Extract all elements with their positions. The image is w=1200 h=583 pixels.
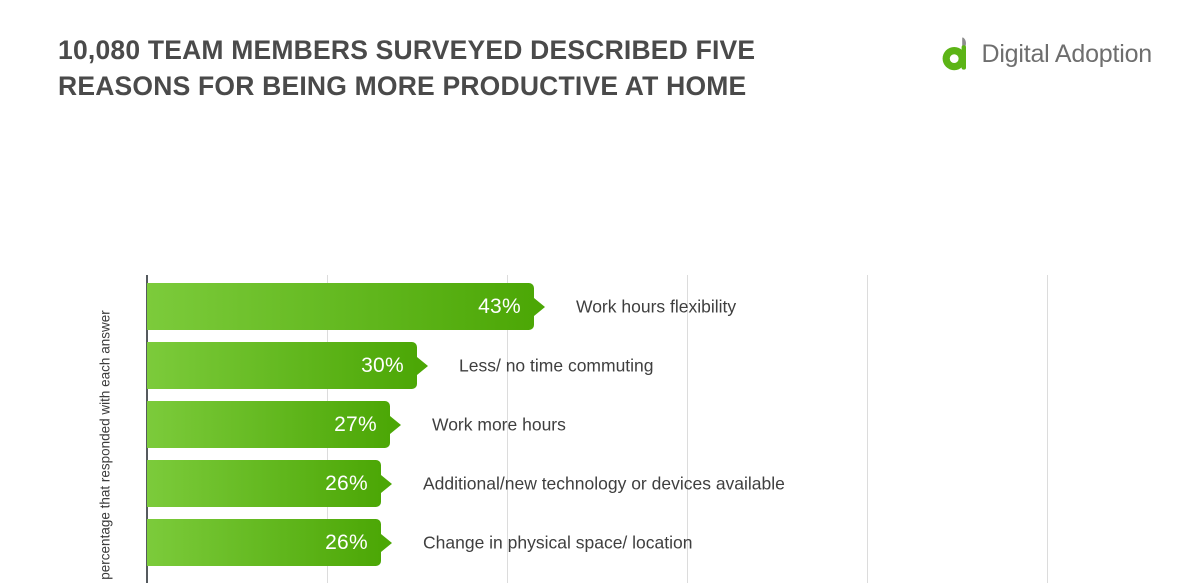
bar-pointer-icon [381, 534, 392, 552]
infographic-chart-page: 10,080 TEAM MEMBERS SURVEYED DESCRIBED F… [0, 0, 1200, 583]
bar-value-label: 43% [478, 295, 534, 319]
y-axis-label-text: The percentage that responded with each … [98, 310, 113, 583]
bar-category-label: Work more hours [432, 414, 566, 435]
bar-series: 43%Work hours flexibility30%Less/ no tim… [147, 283, 1147, 578]
bar-row[interactable]: 27%Work more hours [147, 401, 1147, 448]
bar-pointer-icon [381, 475, 392, 493]
bar-row[interactable]: 30%Less/ no time commuting [147, 342, 1147, 389]
digital-adoption-a-logo-icon [941, 36, 975, 72]
bar-value-label: 26% [325, 531, 381, 555]
header: 10,080 TEAM MEMBERS SURVEYED DESCRIBED F… [0, 0, 1200, 120]
bar-value-label: 30% [361, 354, 417, 378]
bar[interactable]: 26% [147, 460, 381, 507]
bar[interactable]: 30% [147, 342, 417, 389]
page-title: 10,080 TEAM MEMBERS SURVEYED DESCRIBED F… [58, 33, 858, 105]
chart-area: The percentage that responded with each … [0, 120, 1200, 583]
brand-logo: Digital Adoption [941, 36, 1152, 72]
bar-category-label: Change in physical space/ location [423, 532, 692, 553]
bar-pointer-icon [390, 416, 401, 434]
brand-name: Digital Adoption [981, 40, 1152, 69]
bar-row[interactable]: 26%Change in physical space/ location [147, 519, 1147, 566]
bar-value-label: 27% [334, 413, 390, 437]
bar-pointer-icon [417, 357, 428, 375]
y-axis-label: The percentage that responded with each … [96, 268, 114, 583]
bar-category-label: Work hours flexibility [576, 296, 736, 317]
bar-row[interactable]: 43%Work hours flexibility [147, 283, 1147, 330]
bar[interactable]: 26% [147, 519, 381, 566]
bar[interactable]: 27% [147, 401, 390, 448]
bar[interactable]: 43% [147, 283, 534, 330]
bar-pointer-icon [534, 298, 545, 316]
bar-category-label: Less/ no time commuting [459, 355, 654, 376]
bar-value-label: 26% [325, 472, 381, 496]
bar-category-label: Additional/new technology or devices ava… [423, 473, 785, 494]
bar-row[interactable]: 26%Additional/new technology or devices … [147, 460, 1147, 507]
